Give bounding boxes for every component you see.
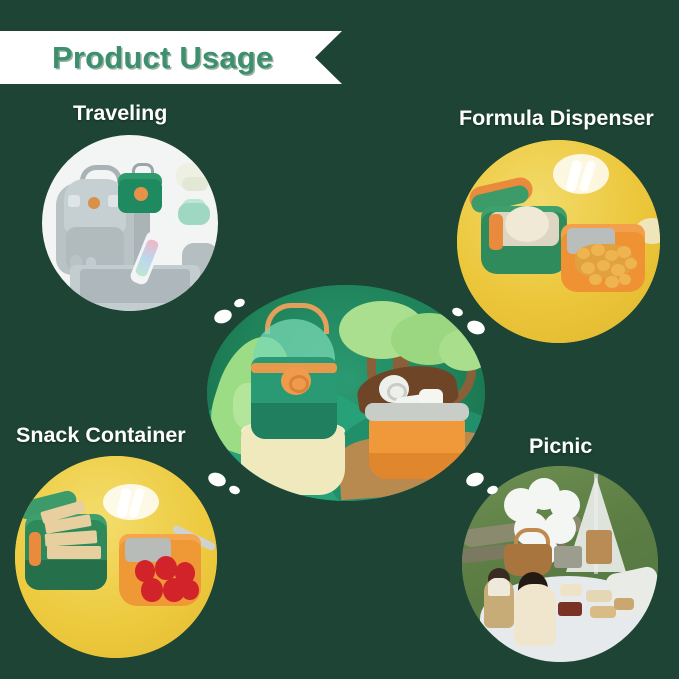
page-title: Product Usage	[52, 40, 273, 76]
tree-canopy-3	[439, 329, 485, 371]
strawberries-group	[15, 456, 217, 658]
backpack-clip-left	[68, 195, 80, 207]
orange-product-lid	[365, 403, 469, 421]
green-product-base	[251, 403, 337, 439]
section-image-traveling	[42, 135, 218, 311]
child-1-shirt	[488, 578, 510, 596]
child-2-body	[514, 584, 556, 646]
backpack-badge	[88, 197, 100, 209]
center-product-image	[207, 285, 485, 501]
infographic-canvas: Product Usage Traveling Formula Dispense…	[0, 0, 679, 679]
section-image-formula-dispenser	[457, 140, 660, 343]
pacifier-shield	[182, 177, 208, 191]
snail-clasp-spiral	[289, 375, 309, 393]
mint-case	[178, 203, 210, 225]
section-label-snack-container: Snack Container	[16, 423, 186, 448]
section-label-formula-dispenser: Formula Dispenser	[459, 106, 654, 131]
title-ribbon: Product Usage	[0, 31, 342, 84]
section-label-traveling: Traveling	[73, 101, 167, 126]
section-image-picnic	[462, 466, 658, 662]
nuts-group	[457, 140, 660, 343]
snail-clasp-icon	[134, 187, 148, 201]
orange-product-base	[369, 453, 465, 479]
picnic-food-group	[462, 466, 658, 662]
section-image-snack-container	[15, 456, 217, 658]
section-label-picnic: Picnic	[529, 434, 592, 459]
